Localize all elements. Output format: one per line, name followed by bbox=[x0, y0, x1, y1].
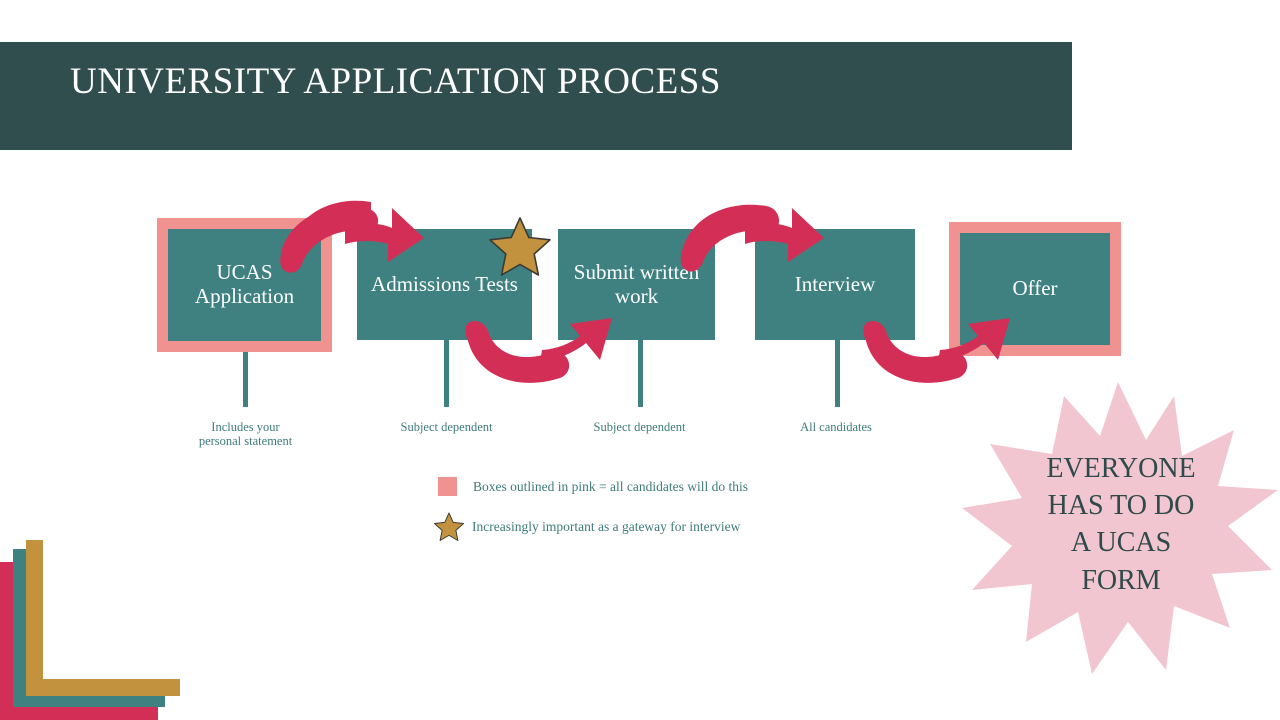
gold-star-icon bbox=[434, 512, 464, 541]
pink-square-icon bbox=[438, 477, 457, 496]
legend-label: Increasingly important as a gateway for … bbox=[472, 519, 740, 535]
legend-item-gold-star: Increasingly important as a gateway for … bbox=[434, 512, 740, 541]
caption-step-3: Subject dependent bbox=[562, 420, 717, 434]
bracket-vertical bbox=[26, 540, 43, 696]
stem-step-2 bbox=[444, 340, 449, 407]
box-fill: UCAS Application bbox=[168, 229, 321, 341]
process-box-label: Admissions Tests bbox=[365, 273, 524, 297]
stem-step-1 bbox=[243, 352, 248, 407]
process-box-ucas-application[interactable]: UCAS Application bbox=[157, 218, 332, 352]
callout-text: EVERYONE HAS TO DO A UCAS FORM bbox=[975, 450, 1267, 599]
process-box-label: Submit written work bbox=[558, 261, 715, 308]
process-box-interview[interactable]: Interview bbox=[755, 229, 915, 340]
bracket-horizontal bbox=[26, 679, 180, 696]
process-box-offer[interactable]: Offer bbox=[949, 222, 1121, 356]
legend-item-pink-outline: Boxes outlined in pink = all candidates … bbox=[438, 477, 748, 496]
stem-step-3 bbox=[638, 340, 643, 407]
box-fill: Interview bbox=[755, 229, 915, 340]
box-fill: Offer bbox=[960, 233, 1110, 345]
process-box-submit-written-work[interactable]: Submit written work bbox=[558, 229, 715, 340]
caption-step-2: Subject dependent bbox=[369, 420, 524, 434]
process-box-label: Interview bbox=[789, 273, 881, 297]
caption-step-1: Includes your personal statement bbox=[168, 420, 323, 449]
gold-star-icon bbox=[489, 216, 551, 276]
process-box-label: Offer bbox=[1006, 277, 1063, 301]
process-box-label: UCAS Application bbox=[168, 261, 321, 308]
legend-label: Boxes outlined in pink = all candidates … bbox=[473, 479, 748, 495]
slide-canvas: UNIVERSITY APPLICATION PROCESS UCAS Appl… bbox=[0, 0, 1280, 720]
page-title: UNIVERSITY APPLICATION PROCESS bbox=[70, 60, 721, 103]
box-fill: Submit written work bbox=[558, 229, 715, 340]
stem-step-4 bbox=[835, 340, 840, 407]
caption-step-4: All candidates bbox=[760, 420, 912, 434]
